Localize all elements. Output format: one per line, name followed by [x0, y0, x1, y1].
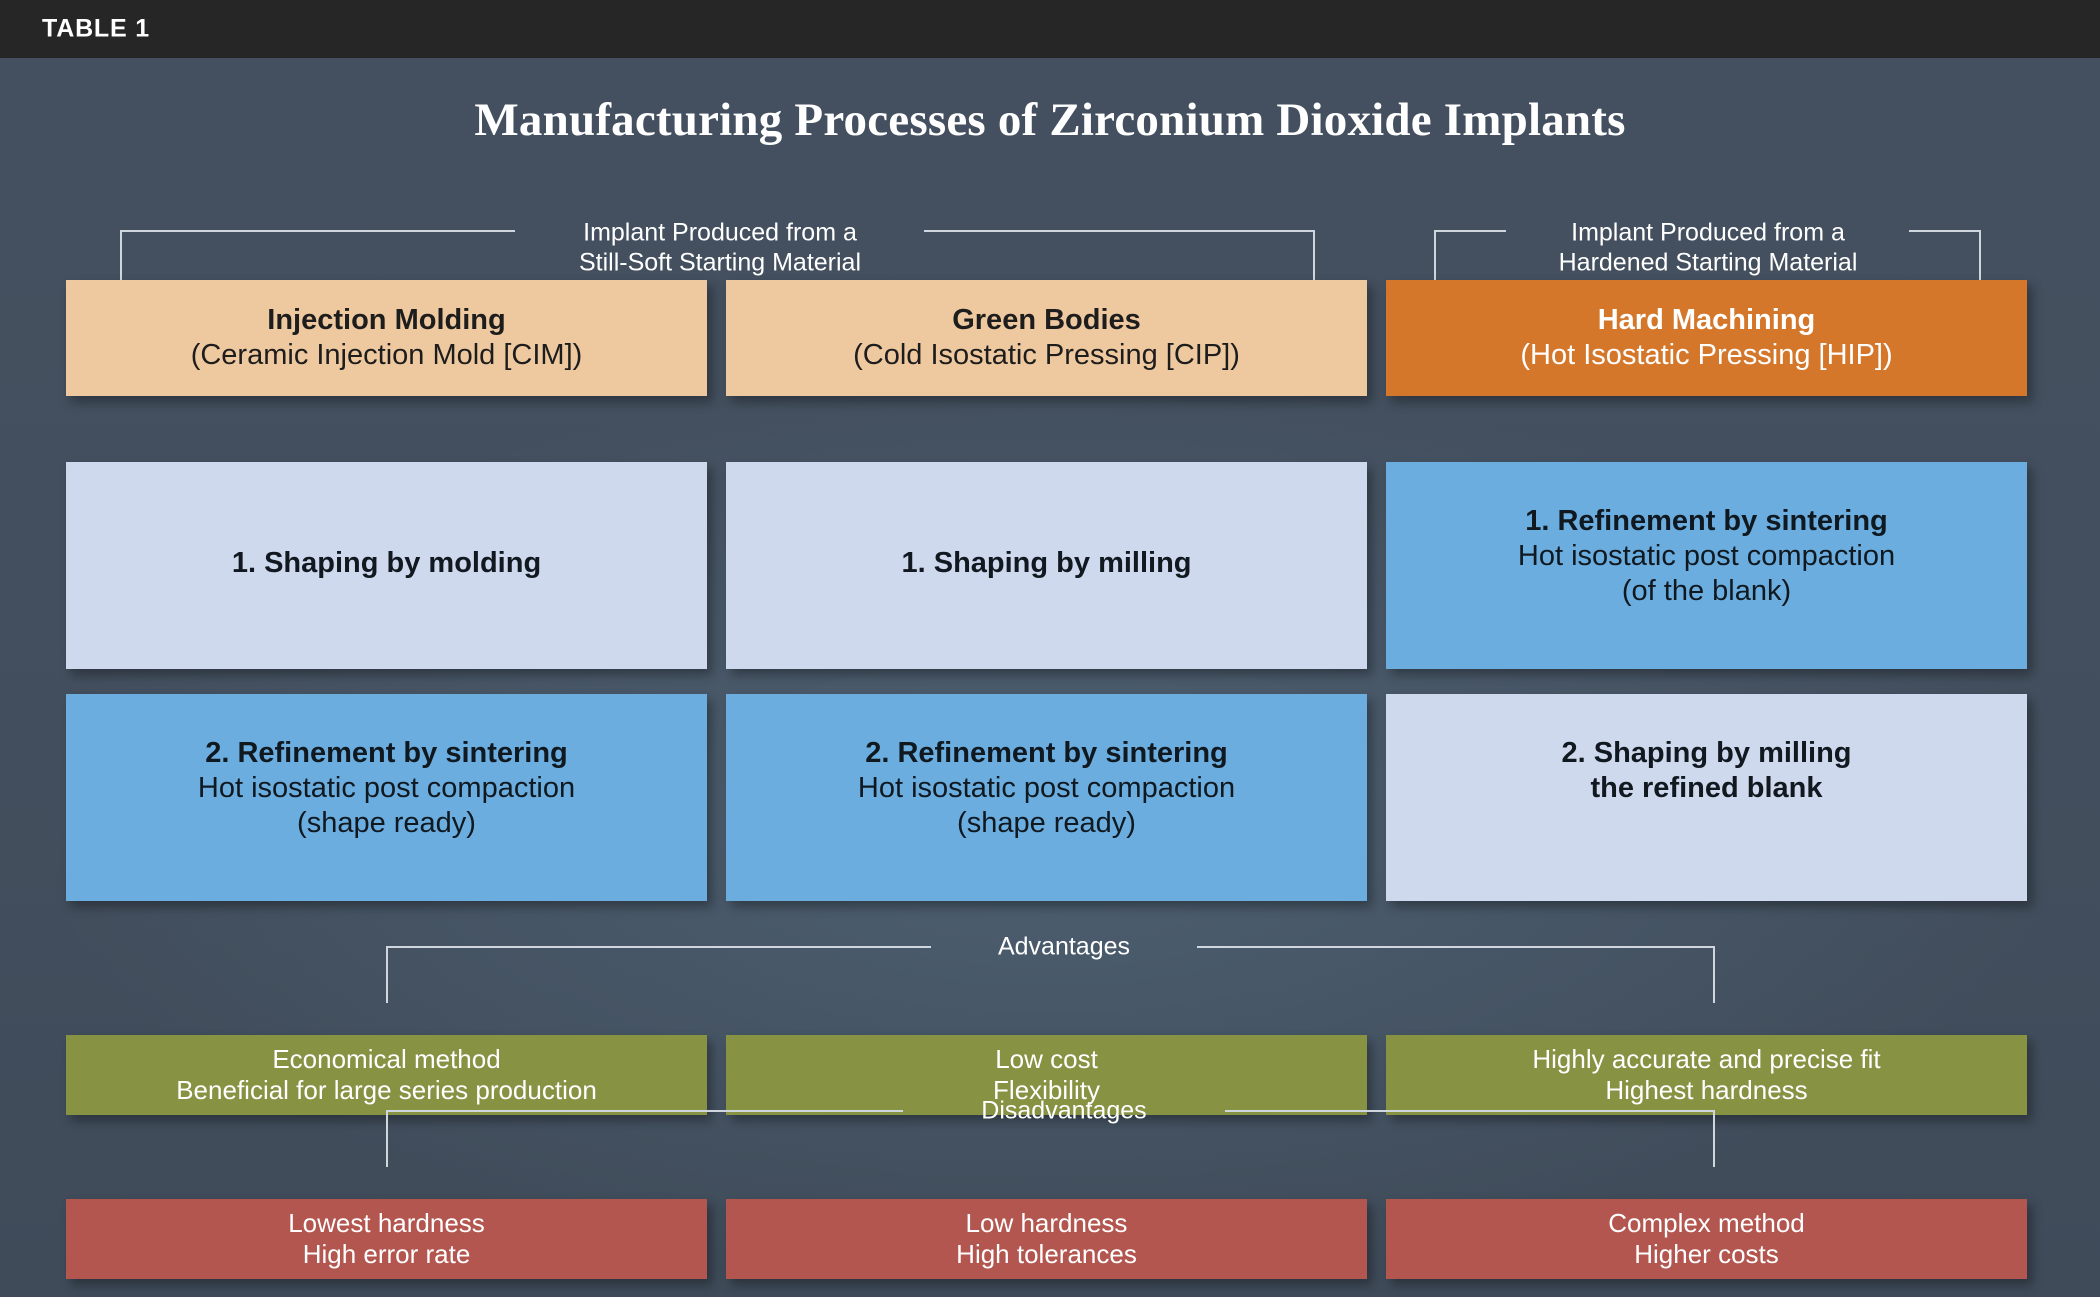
bracket-line-left-segment — [1434, 230, 1506, 232]
group-label-hard: Implant Produced from a Hardened Startin… — [1506, 219, 1910, 278]
table-label-bar: TABLE 1 — [0, 0, 2100, 58]
advantage-line-2: Beneficial for large series production — [66, 1075, 707, 1106]
step-line-1: 1. Shaping by milling — [726, 546, 1367, 581]
step-line-2: Hot isostatic post compaction — [726, 771, 1367, 806]
process-header-hard-machining[interactable]: Hard Machining (Hot Isostatic Pressing [… — [1386, 280, 2027, 396]
bracket-line-right-segment — [1225, 1110, 1715, 1112]
diagram-title: Manufacturing Processes of Zirconium Dio… — [0, 93, 2100, 147]
disadvantage-line-2: High error rate — [66, 1239, 707, 1270]
bracket-drop-right — [1713, 946, 1715, 1003]
step-line-1: 2. Shaping by milling — [1386, 736, 2027, 771]
disadvantage-line-1: Lowest hardness — [66, 1208, 707, 1239]
step-line-3: (of the blank) — [1386, 574, 2027, 609]
bracket-line-left-segment — [386, 1110, 903, 1112]
step2-box-column-2[interactable]: 2. Refinement by sintering Hot isostatic… — [726, 694, 1367, 901]
disadvantage-line-1: Complex method — [1386, 1208, 2027, 1239]
process-header-title: Injection Molding — [66, 303, 707, 338]
bracket-line-left-segment — [386, 946, 931, 948]
diagram-canvas: Manufacturing Processes of Zirconium Dio… — [0, 58, 2100, 1297]
bracket-line-right-segment — [1909, 230, 1981, 232]
advantages-box-column-3[interactable]: Highly accurate and precise fit Highest … — [1386, 1035, 2027, 1115]
bracket-drop-left — [1434, 230, 1436, 286]
step-line-3: (shape ready) — [726, 806, 1367, 841]
disadvantage-line-2: Higher costs — [1386, 1239, 2027, 1270]
step-line-2: Hot isostatic post compaction — [66, 771, 707, 806]
step-line-1: 2. Refinement by sintering — [726, 736, 1367, 771]
step-line-2: Hot isostatic post compaction — [1386, 539, 2027, 574]
process-header-subtitle: (Ceramic Injection Mold [CIM]) — [66, 338, 707, 373]
disadvantage-line-1: Low hardness — [726, 1208, 1367, 1239]
bracket-drop-right — [1979, 230, 1981, 286]
disadvantages-box-column-1[interactable]: Lowest hardness High error rate — [66, 1199, 707, 1279]
advantage-line-2: Highest hardness — [1386, 1075, 2027, 1106]
disadvantages-label: Disadvantages — [903, 1096, 1225, 1126]
disadvantages-box-column-2[interactable]: Low hardness High tolerances — [726, 1199, 1367, 1279]
process-header-title: Hard Machining — [1386, 303, 2027, 338]
process-header-injection-molding[interactable]: Injection Molding (Ceramic Injection Mol… — [66, 280, 707, 396]
step-line-3: (shape ready) — [66, 806, 707, 841]
process-header-green-bodies[interactable]: Green Bodies (Cold Isostatic Pressing [C… — [726, 280, 1367, 396]
process-header-subtitle: (Hot Isostatic Pressing [HIP]) — [1386, 338, 2027, 373]
step1-box-column-2[interactable]: 1. Shaping by milling — [726, 462, 1367, 669]
bracket-drop-left — [386, 946, 388, 1003]
process-header-subtitle: (Cold Isostatic Pressing [CIP]) — [726, 338, 1367, 373]
step-line-2: the refined blank — [1386, 771, 2027, 806]
advantage-line-1: Low cost — [726, 1044, 1367, 1075]
step2-box-column-1[interactable]: 2. Refinement by sintering Hot isostatic… — [66, 694, 707, 901]
process-header-title: Green Bodies — [726, 303, 1367, 338]
disadvantage-line-2: High tolerances — [726, 1239, 1367, 1270]
advantages-box-column-1[interactable]: Economical method Beneficial for large s… — [66, 1035, 707, 1115]
step-line-1: 1. Refinement by sintering — [1386, 504, 2027, 539]
bracket-drop-right — [1713, 1110, 1715, 1167]
advantages-label: Advantages — [931, 932, 1197, 962]
disadvantages-box-column-3[interactable]: Complex method Higher costs — [1386, 1199, 2027, 1279]
bracket-line-right-segment — [1197, 946, 1715, 948]
step-line-1: 1. Shaping by molding — [66, 546, 707, 581]
step2-box-column-3[interactable]: 2. Shaping by milling the refined blank — [1386, 694, 2027, 901]
step1-box-column-1[interactable]: 1. Shaping by molding — [66, 462, 707, 669]
step1-box-column-3[interactable]: 1. Refinement by sintering Hot isostatic… — [1386, 462, 2027, 669]
step-line-1: 2. Refinement by sintering — [66, 736, 707, 771]
bracket-drop-left — [386, 1110, 388, 1167]
advantage-line-1: Highly accurate and precise fit — [1386, 1044, 2027, 1075]
table-number-label: TABLE 1 — [42, 15, 150, 44]
advantage-line-1: Economical method — [66, 1044, 707, 1075]
